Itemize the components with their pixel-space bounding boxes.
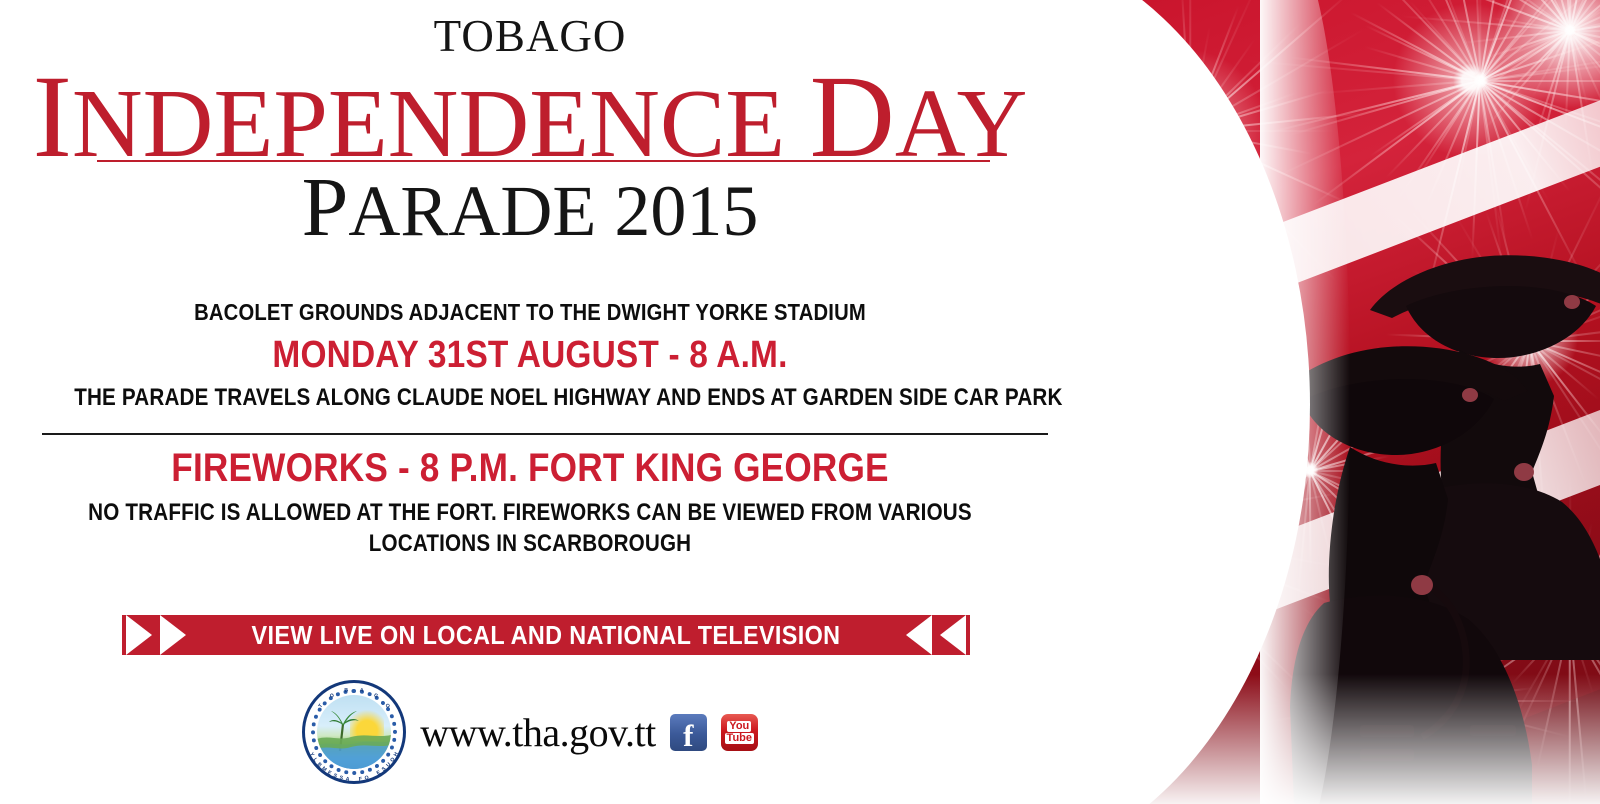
seal-letter: E (376, 770, 382, 777)
fireworks-note: NO TRAFFIC IS ALLOWED AT THE FORT. FIREW… (74, 498, 986, 559)
youtube-icon-line2: Tube (725, 733, 754, 744)
tha-seal-logo: TOBAGO HOUSE OF ASSEMBLY (302, 680, 406, 784)
title-main: INDEPENDENCE DAY (0, 58, 1060, 176)
fireworks-heading: FIREWORKS - 8 P.M. FORT KING GEORGE (64, 446, 997, 491)
chevron-left-icon-1 (940, 615, 966, 655)
seal-letter: S (332, 773, 338, 780)
seal-letter: S (339, 775, 344, 782)
seal-letter: H (393, 751, 400, 757)
chevron-left-icon-2 (906, 615, 932, 655)
seal-letter: Y (308, 752, 315, 758)
seal-letter: S (381, 766, 387, 773)
fireworks-officers-photo (1010, 0, 1600, 804)
facebook-icon[interactable]: f (670, 714, 707, 751)
broadcast-ribbon-label: VIEW LIVE ON LOCAL AND NATIONAL TELEVISI… (164, 615, 927, 655)
title-sub-rest: ARADE 2015 (348, 171, 758, 251)
poster-content: TOBAGO INDEPENDENCE DAY PARADE 2015 BACO… (0, 0, 1070, 804)
seal-letter: U (386, 762, 393, 769)
seal-letter: A (345, 776, 350, 782)
title-eyebrow: TOBAGO (0, 14, 1060, 59)
youtube-icon-line1: You (727, 721, 751, 732)
section-divider (42, 433, 1048, 435)
date-time-line: MONDAY 31ST AUGUST - 8 A.M. (64, 334, 997, 377)
broadcast-ribbon: VIEW LIVE ON LOCAL AND NATIONAL TELEVISI… (122, 615, 970, 655)
website-url[interactable]: www.tha.gov.tt (420, 709, 656, 756)
seal-letter: F (359, 776, 363, 782)
seal-letter: O (390, 757, 397, 764)
venue-line: BACOLET GROUNDS ADJACENT TO THE DWIGHT Y… (64, 299, 997, 326)
route-line: THE PARADE TRAVELS ALONG CLAUDE NOEL HIG… (74, 384, 986, 412)
footer: TOBAGO HOUSE OF ASSEMBLY www.tha.gov.tt … (0, 672, 1060, 792)
title-underline (97, 160, 990, 162)
title-main-dropcap-i: I (33, 51, 72, 182)
seal-letter: O (364, 775, 370, 782)
chevron-right-icon-1 (126, 615, 152, 655)
photo-curved-edge-feather (1260, 0, 1350, 804)
title-main-dropcap-d: D (810, 51, 895, 182)
title-sub-dropcap-p: P (302, 161, 349, 254)
poster: TOBAGO INDEPENDENCE DAY PARADE 2015 BACO… (0, 0, 1600, 804)
seal-letter: E (326, 770, 332, 777)
title-sub: PARADE 2015 (0, 166, 1060, 250)
seal-bottom-text: HOUSE OF ASSEMBLY (302, 680, 406, 784)
youtube-icon[interactable]: You Tube (721, 714, 758, 751)
